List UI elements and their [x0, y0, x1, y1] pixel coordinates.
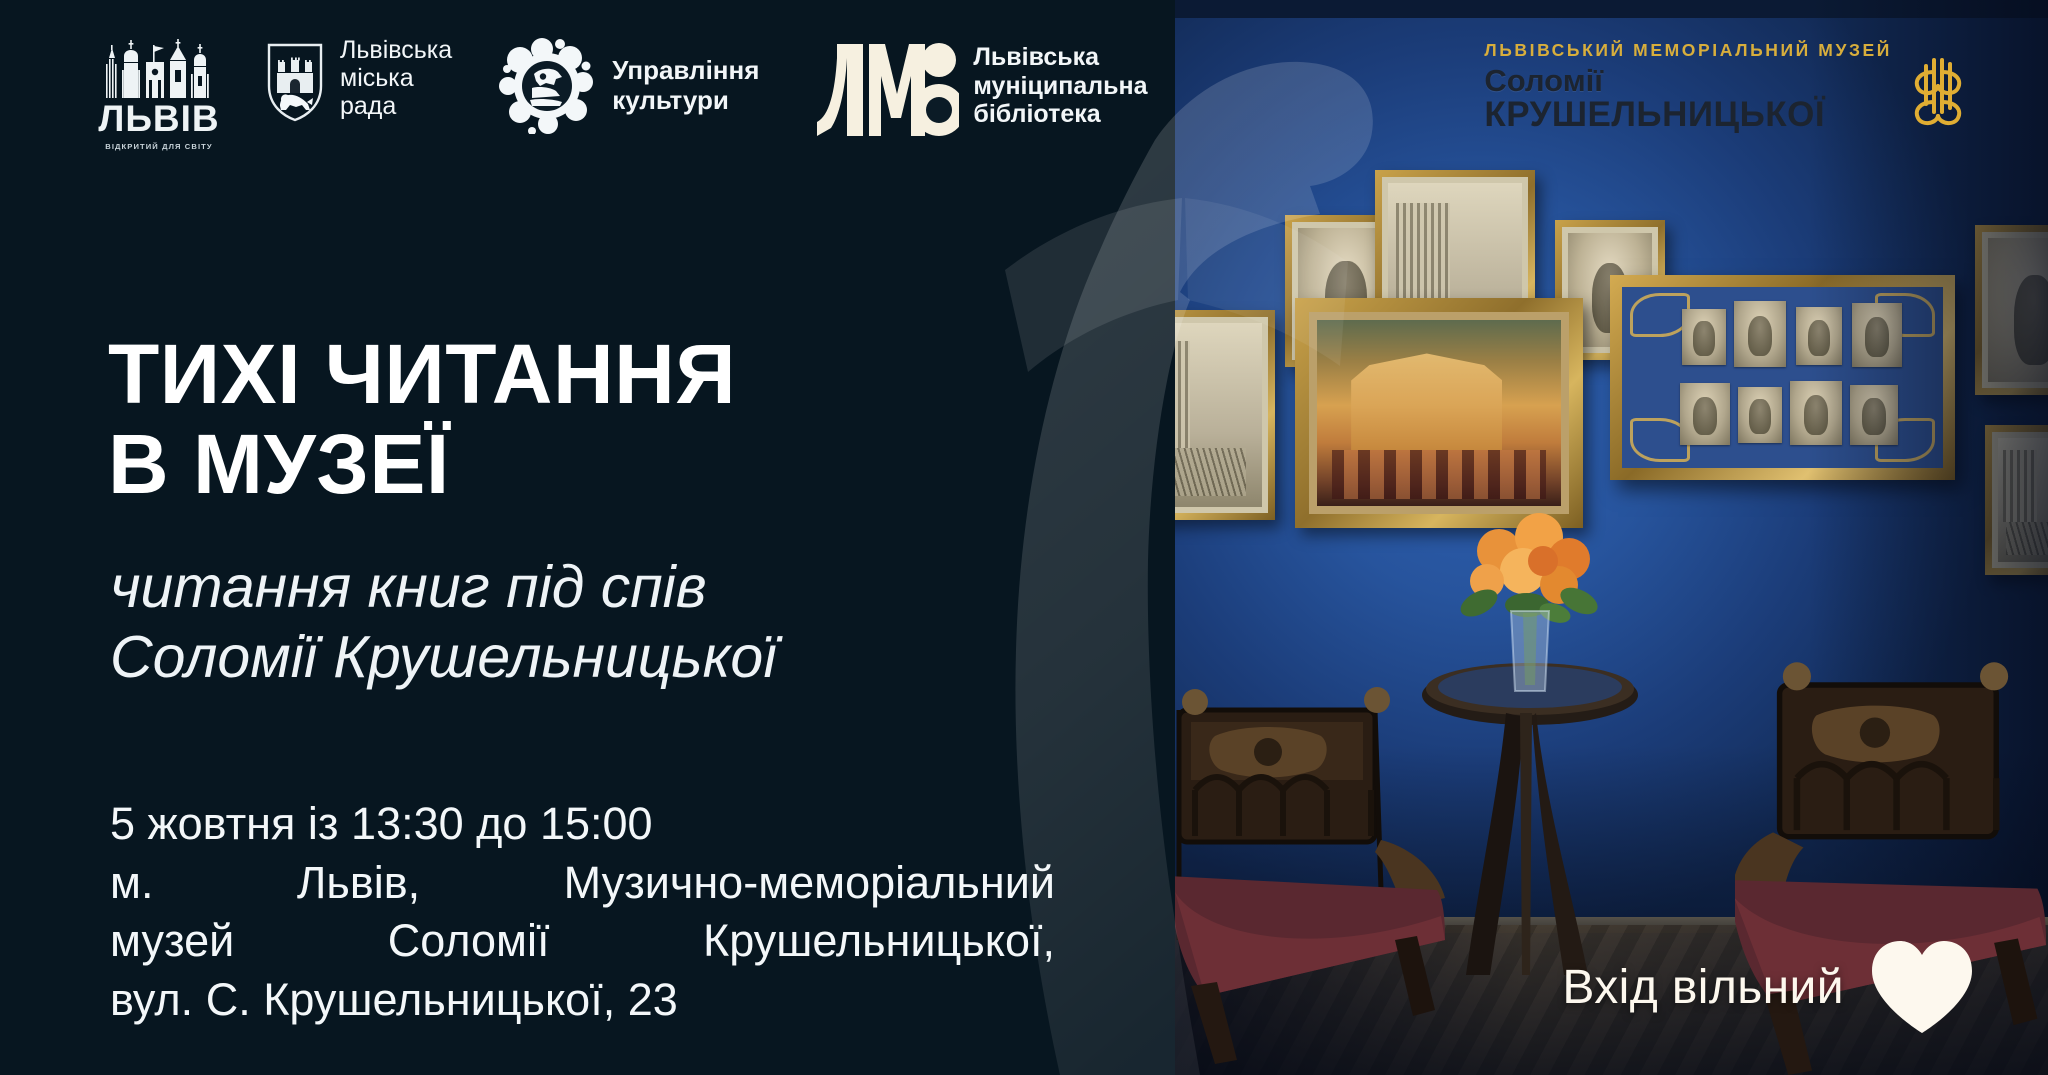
city-council-label: Львівська міська рада [340, 36, 452, 120]
frame-mat [1175, 317, 1268, 513]
treble-clef-ornament-icon [1904, 54, 1976, 130]
frame-mat [1309, 312, 1569, 514]
library-label: Львівська муніципальна бібліотека [973, 43, 1147, 129]
event-address-line-3: вул. С. Крушельницької, 23 [110, 971, 1055, 1030]
event-address-line-1: м. Львів, Музично-меморіальний [110, 854, 1055, 913]
collage-photo [1738, 387, 1782, 443]
lviv-wordmark: ЛЬВІВ [98, 100, 219, 137]
artwork [1175, 323, 1262, 507]
partner-logo-row: ЛЬВІВ ВІДКРИТИЙ ДЛЯ СВІТУ [100, 36, 1148, 166]
event-datetime: 5 жовтня із 13:30 до 15:00 [110, 795, 1055, 854]
free-entry-badge: Вхід вільний [1562, 937, 1976, 1037]
lviv-tagline: ВІДКРИТИЙ ДЛЯ СВІТУ [105, 142, 212, 151]
library-line-2: муніципальна [973, 72, 1147, 101]
museum-logo-line-3: КРУШЕЛЬНИЦЬКОЇ [1484, 97, 1892, 133]
museum-logo-line-2: Соломії [1484, 65, 1892, 97]
free-entry-label: Вхід вільний [1562, 960, 1844, 1015]
council-line-2: міська [340, 64, 452, 92]
event-details: 5 жовтня із 13:30 до 15:00 м. Львів, Муз… [110, 795, 1055, 1029]
picture-frame-engraving-left [1175, 310, 1275, 520]
left-info-panel: ЛЬВІВ ВІДКРИТИЙ ДЛЯ СВІТУ [0, 0, 1175, 1075]
logo-lviv-city[interactable]: ЛЬВІВ ВІДКРИТИЙ ДЛЯ СВІТУ [100, 36, 218, 151]
lmb-monogram-icon [811, 36, 959, 136]
museum-interior-photo [1175, 0, 2048, 1075]
lviv-coat-of-arms-icon [266, 42, 324, 122]
library-line-1: Львівська [973, 43, 1147, 72]
library-line-3: бібліотека [973, 100, 1147, 129]
event-address-line-2: музей Соломії Крушельницької, [110, 912, 1055, 971]
collage-photo [1682, 309, 1726, 365]
council-line-1: Львівська [340, 36, 452, 64]
artwork-opera-house [1317, 320, 1561, 506]
poster-root: ЛЬВІВ ВІДКРИТИЙ ДЛЯ СВІТУ [0, 0, 2048, 1075]
museum-logo[interactable]: ЛЬВІВСЬКИЙ МЕМОРІАЛЬНИЙ МУЗЕЙ Соломії КР… [1484, 40, 1976, 132]
event-headline: ТИХІ ЧИТАННЯ В МУЗЕЇ [108, 330, 736, 510]
lion-circle-icon [498, 36, 596, 134]
lviv-skyline-icon [102, 36, 216, 98]
logo-municipal-library[interactable]: Львівська муніципальна бібліотека [811, 36, 1147, 136]
museum-logo-text: ЛЬВІВСЬКИЙ МЕМОРІАЛЬНИЙ МУЗЕЙ Соломії КР… [1484, 40, 1892, 132]
antique-chair-left [1175, 640, 1485, 1070]
culture-line-1: Управління [612, 55, 759, 85]
logo-city-council[interactable]: Львівська міська рада [266, 36, 452, 122]
event-subtitle: читання книг під спів Соломії Крушельниц… [110, 552, 776, 692]
museum-logo-line-1: ЛЬВІВСЬКИЙ МЕМОРІАЛЬНИЙ МУЗЕЙ [1484, 40, 1892, 61]
culture-department-label: Управління культури [612, 55, 759, 115]
culture-line-2: культури [612, 85, 759, 115]
council-line-3: рада [340, 92, 452, 120]
collage-photo [1734, 301, 1786, 367]
logo-culture-department[interactable]: Управління культури [498, 36, 759, 134]
gold-ornament-icon [1630, 293, 1690, 337]
heart-icon [1868, 937, 1976, 1037]
collage-photo [1680, 383, 1730, 445]
